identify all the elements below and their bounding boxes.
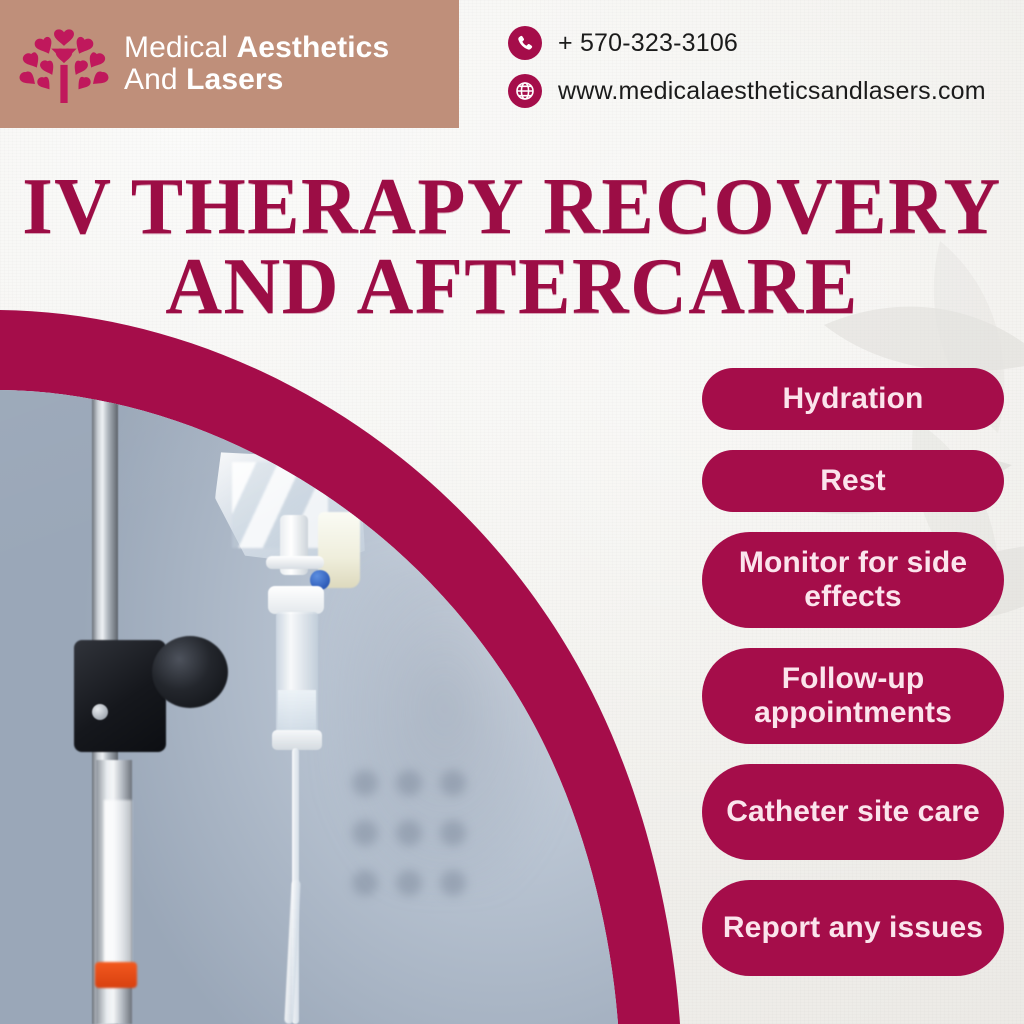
pole-clamp-screw: [92, 704, 108, 720]
contact-website-row[interactable]: www.medicalaestheticsandlasers.com: [508, 74, 986, 108]
checklist-item-rest[interactable]: Rest: [702, 450, 1004, 512]
brand-line1-bold: Aesthetics: [237, 31, 390, 64]
brand-line2-thin: And: [124, 63, 186, 96]
iv-pole-label: [104, 800, 132, 970]
checklist-item-catheter-site-care[interactable]: Catheter site care: [702, 764, 1004, 860]
title-line-1: IV THERAPY RECOVERY: [22, 161, 1002, 251]
contact-phone-row[interactable]: + 570-323-3106: [508, 26, 986, 60]
globe-icon: [508, 74, 542, 108]
checklist-item-report-any-issues[interactable]: Report any issues: [702, 880, 1004, 976]
phone-icon: [508, 26, 542, 60]
tree-heart-logo-icon: [18, 25, 110, 103]
brand-header-bar: Medical Aesthetics And Lasers: [0, 0, 459, 128]
aftercare-checklist: Hydration Rest Monitor for side effects …: [702, 368, 1004, 976]
drip-chamber-fluid: [278, 690, 316, 734]
pole-clamp-knob: [152, 636, 228, 708]
website-url: www.medicalaestheticsandlasers.com: [558, 77, 986, 106]
checklist-item-hydration[interactable]: Hydration: [702, 368, 1004, 430]
pole-clamp-block: [74, 640, 166, 752]
poster-canvas: Medical Aesthetics And Lasers + 570-323-…: [0, 0, 1024, 1024]
title-line-2: AND AFTERCARE: [15, 246, 1008, 326]
page-title: IV THERAPY RECOVERY AND AFTERCARE: [15, 166, 1008, 326]
iv-pole-orange-clip: [95, 962, 137, 988]
brand-line1-thin: Medical: [124, 31, 237, 64]
arc-frame: [0, 0, 760, 1024]
phone-number: + 570-323-3106: [558, 29, 738, 58]
checklist-item-monitor-side-effects[interactable]: Monitor for side effects: [702, 532, 1004, 628]
wall-dots-decor: [352, 770, 472, 920]
checklist-item-follow-up-appointments[interactable]: Follow-up appointments: [702, 648, 1004, 744]
drip-chamber-base: [272, 730, 322, 750]
brand-name: Medical Aesthetics And Lasers: [124, 32, 389, 97]
iv-spike-collar: [266, 556, 324, 569]
contact-block: + 570-323-3106 www.medicalaestheticsandl…: [508, 26, 986, 108]
photo-arc-panel: [0, 0, 760, 1024]
brand-line2-bold: Lasers: [186, 63, 283, 96]
drip-chamber-cap: [268, 586, 324, 614]
